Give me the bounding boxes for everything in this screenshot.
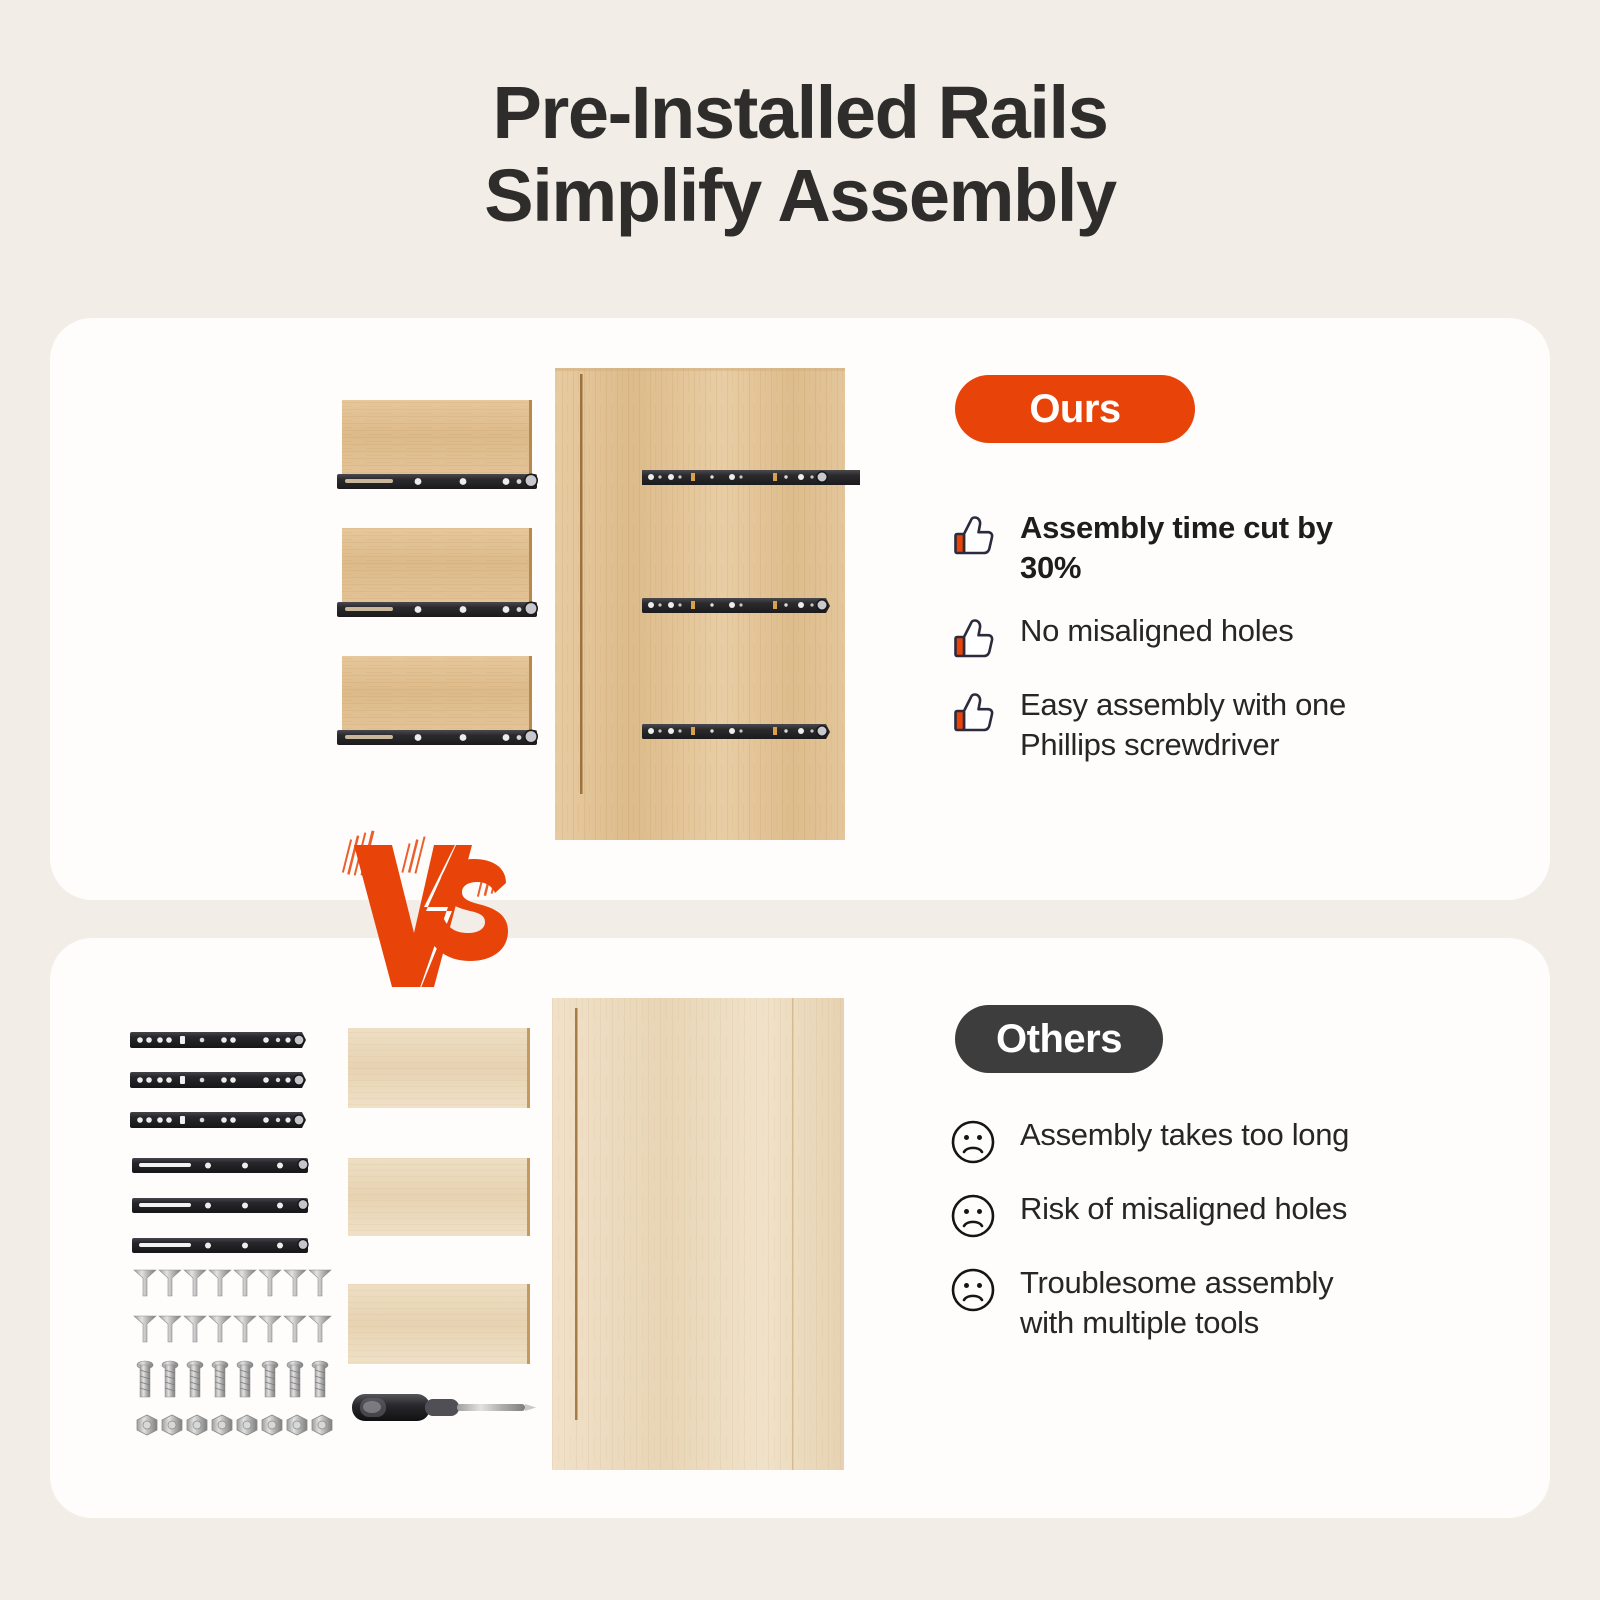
vs-graphic: [330, 815, 530, 1010]
page-title: Pre-Installed Rails Simplify Assembly: [0, 72, 1600, 238]
thumbs-up-icon: [948, 687, 998, 737]
preinstalled-rail-2: [642, 598, 830, 613]
screw-row-3: [137, 1361, 328, 1397]
drawback-text: Troublesome assembly with multiple tools: [1020, 1263, 1368, 1344]
preinstalled-rail-1: [642, 470, 860, 485]
sad-face-icon: [948, 1117, 998, 1167]
drawer-front-1: [342, 400, 532, 478]
benefits-list-ours: Assembly time cut by 30% No misaligned h…: [948, 508, 1368, 787]
nut-row: [137, 1415, 332, 1435]
sad-face-icon: [948, 1191, 998, 1241]
ours-illustration-svg: [320, 360, 860, 860]
illustration-ours: [320, 360, 860, 860]
loose-rail-a-3: [130, 1112, 306, 1128]
drawback-item: Risk of misaligned holes: [948, 1189, 1368, 1241]
drawback-item: Assembly takes too long: [948, 1115, 1368, 1167]
loose-rail-b-1: [132, 1158, 308, 1173]
badge-others: Others: [955, 1005, 1163, 1073]
board-1: [348, 1028, 530, 1108]
benefit-text: No misaligned holes: [1020, 611, 1293, 651]
badge-ours: Ours: [955, 375, 1195, 443]
screw-row-1: [134, 1270, 331, 1296]
badge-others-label: Others: [996, 1017, 1122, 1062]
benefit-text: Easy assembly with one Phillips screwdri…: [1020, 685, 1368, 766]
others-illustration-svg: [120, 990, 860, 1480]
board-3: [348, 1284, 530, 1364]
drawback-text: Assembly takes too long: [1020, 1115, 1349, 1155]
drawer-front-2: [342, 528, 532, 606]
drawer-rail-1: [337, 474, 537, 489]
drawer-front-3: [342, 656, 532, 734]
loose-rail-b-3: [132, 1238, 308, 1253]
title-line-2: Simplify Assembly: [0, 155, 1600, 238]
illustration-others: [120, 990, 860, 1480]
screw-row-2: [134, 1316, 331, 1342]
benefit-item: Easy assembly with one Phillips screwdri…: [948, 685, 1368, 766]
benefit-item: Assembly time cut by 30%: [948, 508, 1368, 589]
benefit-item: No misaligned holes: [948, 611, 1368, 663]
drawbacks-list-others: Assembly takes too long Risk of misalign…: [948, 1115, 1368, 1366]
drawback-text: Risk of misaligned holes: [1020, 1189, 1347, 1229]
loose-rail-b-2: [132, 1198, 308, 1213]
drawback-item: Troublesome assembly with multiple tools: [948, 1263, 1368, 1344]
title-line-1: Pre-Installed Rails: [493, 71, 1108, 154]
thumbs-up-icon: [948, 613, 998, 663]
preinstalled-rail-3: [642, 724, 830, 739]
thumbs-up-icon: [948, 510, 998, 560]
board-2: [348, 1158, 530, 1236]
loose-rail-a-1: [130, 1032, 306, 1048]
sad-face-icon: [948, 1265, 998, 1315]
benefit-text: Assembly time cut by 30%: [1020, 508, 1368, 589]
cabinet-side-panel-plain: [552, 998, 844, 1470]
loose-rail-a-2: [130, 1072, 306, 1088]
screwdriver-icon: [352, 1394, 536, 1421]
infographic-page: Pre-Installed Rails Simplify Assembly: [0, 0, 1600, 1600]
drawer-rail-2: [337, 602, 537, 617]
badge-ours-label: Ours: [1029, 387, 1120, 432]
drawer-rail-3: [337, 730, 537, 745]
